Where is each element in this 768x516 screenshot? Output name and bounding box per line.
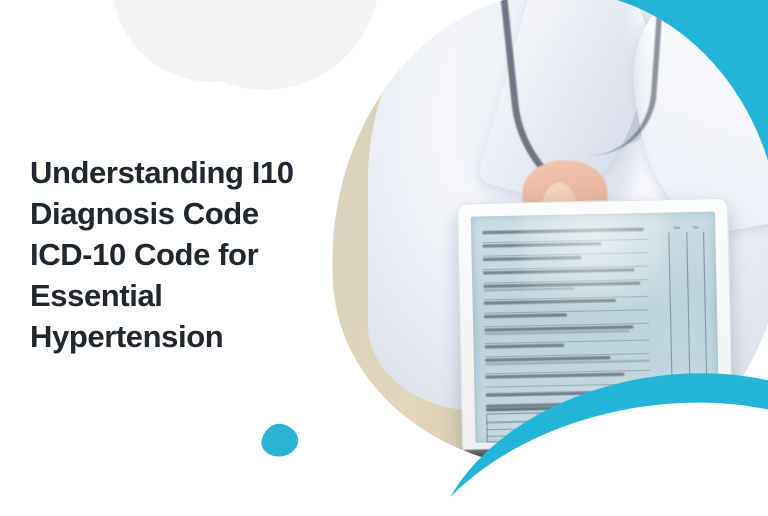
form-column-headers: Yes No <box>668 225 704 230</box>
form-question-row <box>485 355 650 374</box>
form-question-row <box>484 325 649 344</box>
column-header-yes: Yes <box>668 226 685 231</box>
column-header-no: No <box>687 225 704 230</box>
screen-glare <box>519 212 668 307</box>
teal-pebble-accent <box>259 420 302 461</box>
hero-banner: Yes No <box>0 0 768 516</box>
page-title: Understanding I10 Diagnosis Code ICD-10 … <box>30 152 360 357</box>
